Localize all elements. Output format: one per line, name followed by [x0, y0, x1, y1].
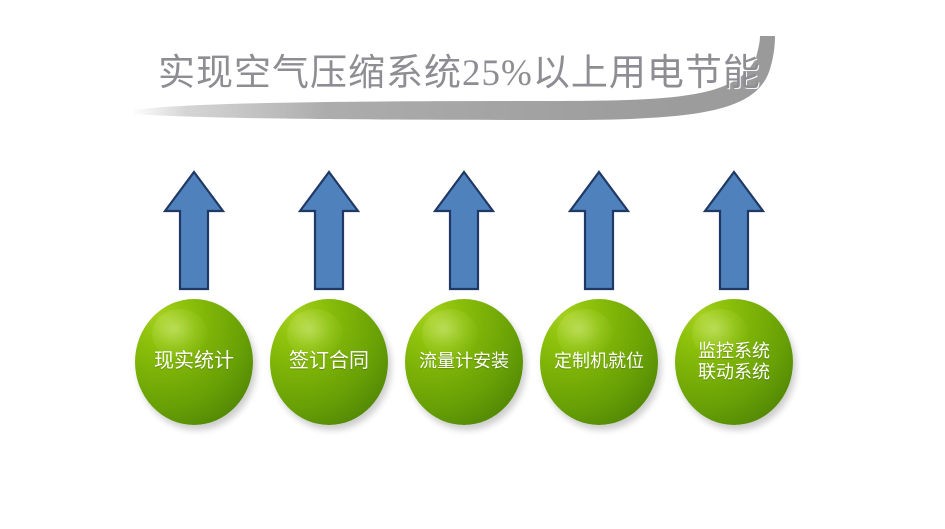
up-arrow-icon — [703, 170, 765, 292]
step-sphere-1[interactable]: 现实统计 — [135, 299, 253, 425]
step-sphere-5[interactable]: 监控系统 联动系统 — [675, 299, 793, 425]
arrow-cell-5 — [675, 170, 793, 292]
step-label: 签订合同 — [285, 350, 373, 374]
up-arrow-icon — [568, 170, 630, 292]
up-arrow-icon — [298, 170, 360, 292]
step-label: 定制机就位 — [550, 351, 648, 372]
arrow-cell-3 — [405, 170, 523, 292]
arrow-cell-1 — [135, 170, 253, 292]
slide-title-block: 实现空气压缩系统25%以上用电节能 — [130, 34, 800, 154]
step-sphere-4[interactable]: 定制机就位 — [540, 299, 658, 425]
arrow-row — [135, 170, 810, 292]
arrow-cell-2 — [270, 170, 388, 292]
up-arrow-icon — [433, 170, 495, 292]
slide-canvas: 实现空气压缩系统25%以上用电节能 — [0, 0, 945, 529]
sphere-row: 现实统计 签订合同 流量计安装 定制机就位 监控系统 联动系统 — [135, 299, 810, 429]
arrow-cell-4 — [540, 170, 658, 292]
up-arrow-icon — [163, 170, 225, 292]
step-label: 流量计安装 — [415, 351, 513, 372]
step-sphere-3[interactable]: 流量计安装 — [405, 299, 523, 425]
step-label: 现实统计 — [150, 350, 238, 374]
page-title: 实现空气压缩系统25%以上用电节能 — [158, 44, 758, 104]
step-label: 监控系统 联动系统 — [694, 341, 774, 383]
step-sphere-2[interactable]: 签订合同 — [270, 299, 388, 425]
